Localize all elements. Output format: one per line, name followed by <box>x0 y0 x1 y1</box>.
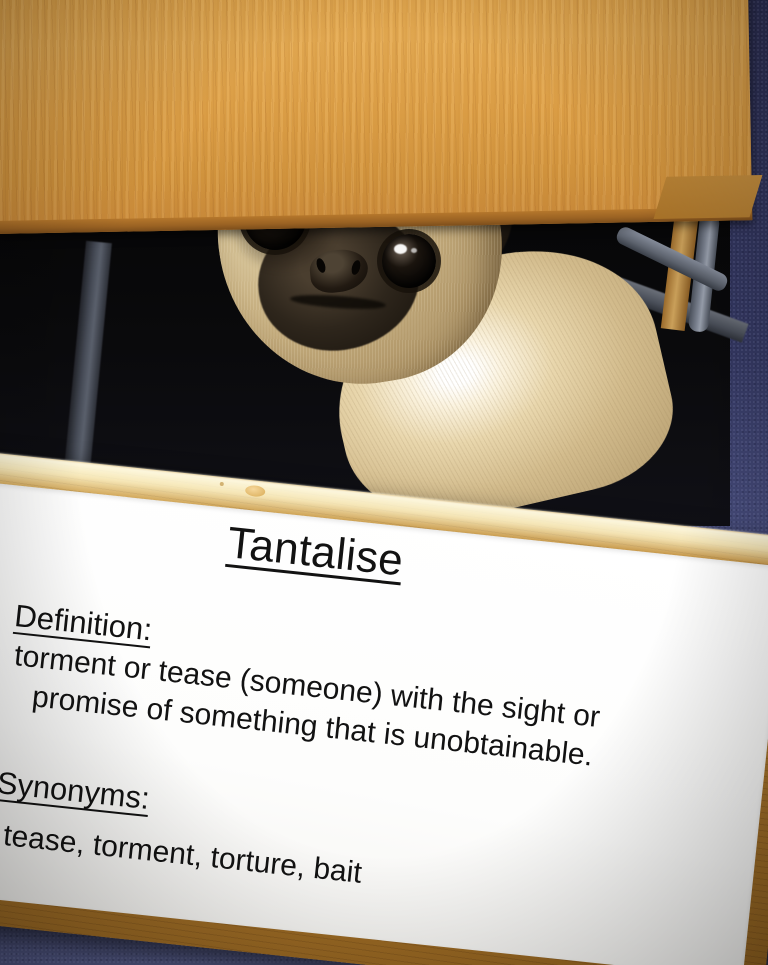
whiteboard-surface: Tantalise Definition: torment or tease (… <box>0 482 768 965</box>
whiteboard: Tantalise Definition: torment or tease (… <box>0 449 768 965</box>
pug-eye-right <box>382 234 436 288</box>
synonyms-label: Synonyms: <box>0 765 151 817</box>
photo-scene: Tantalise Definition: torment or tease (… <box>0 0 768 965</box>
desk-right-edge <box>654 175 763 219</box>
definition-text: torment or tease (someone) with the sigh… <box>8 636 732 789</box>
pug-eye-glint <box>394 244 407 254</box>
pug-eye-glint <box>411 248 417 253</box>
desk-wood-grain <box>0 0 752 234</box>
wooden-desk <box>0 0 752 234</box>
whiteboard-title: Tantalise <box>225 518 406 586</box>
